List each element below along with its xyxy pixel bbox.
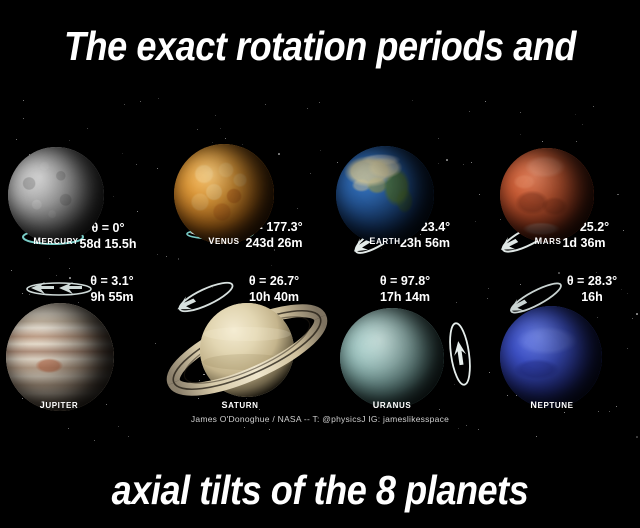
star [49, 258, 50, 259]
star [265, 104, 266, 105]
star [124, 104, 125, 105]
planet-label-uranus: Uranus [332, 396, 452, 411]
period-value-uranus: 17h 14m [350, 290, 460, 306]
star [412, 100, 413, 101]
planet-cell-uranus: θ = 97.8° 17h 14m Uranus [330, 262, 490, 410]
star [466, 425, 467, 426]
planet-cell-neptune: θ = 28.3° 16h Neptune [490, 262, 640, 410]
star [166, 256, 167, 257]
planet-label-mercury: Mercury [0, 232, 116, 247]
planet-label-earth: Earth [325, 232, 445, 247]
star [178, 258, 180, 260]
star [269, 429, 270, 430]
planet-label-neptune: Neptune [492, 396, 612, 411]
saturn-ring-system [152, 282, 342, 412]
tilt-value-neptune: θ = 28.3° [544, 274, 640, 290]
poster-canvas: The exact rotation periods and θ = 0° 58… [0, 0, 640, 528]
planet-info-jupiter: θ = 3.1° 9h 55m [62, 274, 162, 305]
star [636, 436, 638, 438]
planet-cell-saturn: θ = 26.7° 10h 40m [160, 262, 330, 410]
planet-label-mars: Mars [488, 232, 608, 247]
star [128, 436, 129, 437]
planet-cell-earth: θ = 23.4° 23h 56m Earth [320, 108, 480, 248]
planet-cell-mercury: θ = 0° 58d 15.5h Mercury [0, 108, 160, 248]
planet-disc-mars [500, 148, 594, 242]
star [536, 436, 537, 437]
planet-info-neptune: θ = 28.3° 16h [544, 274, 640, 305]
planet-disc-jupiter [6, 303, 114, 411]
star [94, 440, 95, 441]
planet-label-venus: Venus [164, 232, 284, 247]
star [319, 102, 320, 103]
period-value-jupiter: 9h 55m [62, 290, 162, 306]
star [140, 101, 141, 102]
tilt-value-uranus: θ = 97.8° [350, 274, 460, 290]
planet-info-uranus: θ = 97.8° 17h 14m [350, 274, 460, 305]
top-caption: The exact rotation periods and [38, 22, 601, 70]
tilt-value-jupiter: θ = 3.1° [62, 274, 162, 290]
planet-disc-neptune [500, 306, 602, 408]
star [478, 429, 479, 430]
planet-disc-mercury [8, 147, 104, 243]
period-value-neptune: 16h [544, 290, 640, 306]
star [598, 411, 599, 412]
planet-cell-mars: θ = 25.2° 1d 36m Mars [480, 108, 640, 248]
star [158, 98, 159, 99]
rotation-ring-uranus [445, 319, 475, 389]
planet-cell-jupiter: θ = 3.1° 9h 55m Jupiter [0, 262, 160, 410]
star [564, 412, 565, 413]
credit-line: James O'Donoghue / NASA -- T: @physicsJ … [0, 414, 640, 424]
planet-disc-earth [336, 146, 434, 244]
star [485, 101, 486, 102]
star [118, 426, 119, 427]
planet-label-jupiter: Jupiter [0, 396, 119, 411]
star [244, 427, 245, 428]
star [68, 428, 69, 429]
planet-disc-venus [174, 144, 274, 244]
bottom-caption: axial tilts of the 8 planets [38, 466, 601, 514]
star [458, 428, 459, 429]
star [157, 254, 158, 255]
star [23, 100, 24, 101]
planet-label-saturn: Saturn [180, 396, 300, 411]
planet-cell-venus: θ = 177.3° 243d 26m Venus [160, 108, 320, 248]
planet-disc-uranus [340, 308, 444, 408]
